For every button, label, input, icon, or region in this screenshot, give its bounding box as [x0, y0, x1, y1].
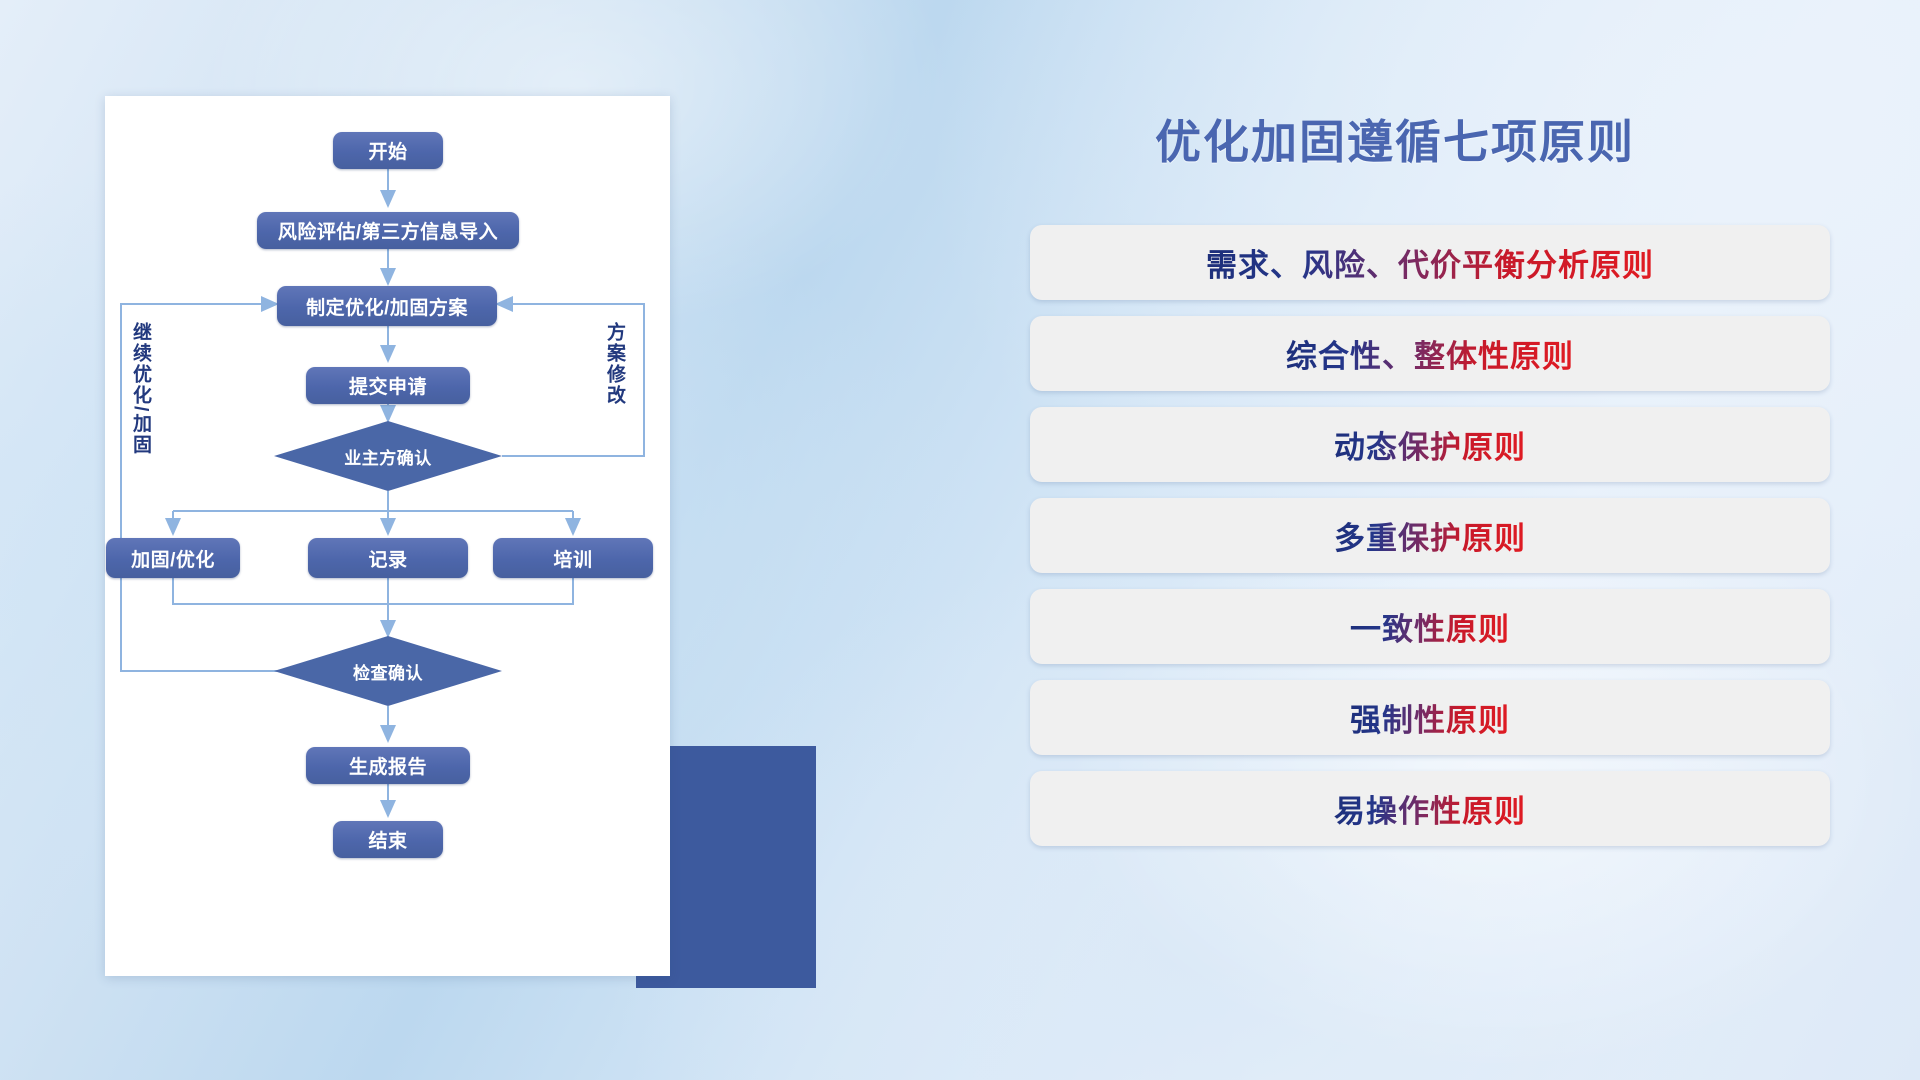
flow-node-training[interactable]: 培训 [493, 538, 653, 578]
flow-node-label: 生成报告 [349, 752, 427, 779]
flow-node-label: 风险评估/第三方信息导入 [278, 217, 498, 244]
principles-panel: 优化加固遵循七项原则 需求、风险、代价平衡分析原则 综合性、整体性原则 动态保护… [1020, 0, 1920, 1080]
flow-side-label-continue-optimize: 继续优化/加固 [130, 322, 150, 472]
flow-node-label: 培训 [553, 545, 592, 572]
flow-node-reinforce[interactable]: 加固/优化 [106, 538, 240, 578]
principle-label: 一致性原则 [1350, 604, 1510, 649]
principles-list: 需求、风险、代价平衡分析原则 综合性、整体性原则 动态保护原则 多重保护原则 一… [1030, 225, 1830, 862]
flow-node-label: 开始 [368, 137, 407, 164]
panel-title: 优化加固遵循七项原则 [1155, 106, 1635, 172]
principle-card[interactable]: 强制性原则 [1030, 680, 1830, 755]
flowchart-card: 开始 风险评估/第三方信息导入 制定优化/加固方案 提交申请 业主方确认 加固/… [105, 96, 670, 976]
principle-label: 综合性、整体性原则 [1286, 331, 1574, 376]
flow-node-label: 检查确认 [353, 659, 423, 684]
flow-node-label: 结束 [368, 826, 407, 853]
principle-label: 需求、风险、代价平衡分析原则 [1206, 240, 1654, 285]
principle-card[interactable]: 一致性原则 [1030, 589, 1830, 664]
principle-card[interactable]: 易操作性原则 [1030, 771, 1830, 846]
flow-node-label: 业主方确认 [344, 444, 432, 469]
flow-node-label: 加固/优化 [131, 545, 215, 572]
flow-node-label: 记录 [368, 545, 407, 572]
flow-node-start[interactable]: 开始 [333, 132, 443, 169]
flow-side-label-plan-revision: 方案修改 [604, 322, 624, 432]
flow-node-generate-report[interactable]: 生成报告 [306, 747, 470, 784]
principle-card[interactable]: 动态保护原则 [1030, 407, 1830, 482]
flow-node-record[interactable]: 记录 [308, 538, 468, 578]
principle-label: 动态保护原则 [1334, 422, 1526, 467]
principle-label: 多重保护原则 [1334, 513, 1526, 558]
flow-node-label: 制定优化/加固方案 [306, 293, 468, 320]
principle-card[interactable]: 需求、风险、代价平衡分析原则 [1030, 225, 1830, 300]
principle-card[interactable]: 综合性、整体性原则 [1030, 316, 1830, 391]
principle-label: 强制性原则 [1350, 695, 1510, 740]
flow-node-label: 提交申请 [349, 372, 427, 399]
flow-node-submit[interactable]: 提交申请 [306, 367, 470, 404]
flow-node-risk-assessment[interactable]: 风险评估/第三方信息导入 [257, 212, 519, 249]
principle-card[interactable]: 多重保护原则 [1030, 498, 1830, 573]
flow-node-plan[interactable]: 制定优化/加固方案 [277, 286, 497, 326]
flow-node-end[interactable]: 结束 [333, 821, 443, 858]
principle-label: 易操作性原则 [1334, 786, 1526, 831]
